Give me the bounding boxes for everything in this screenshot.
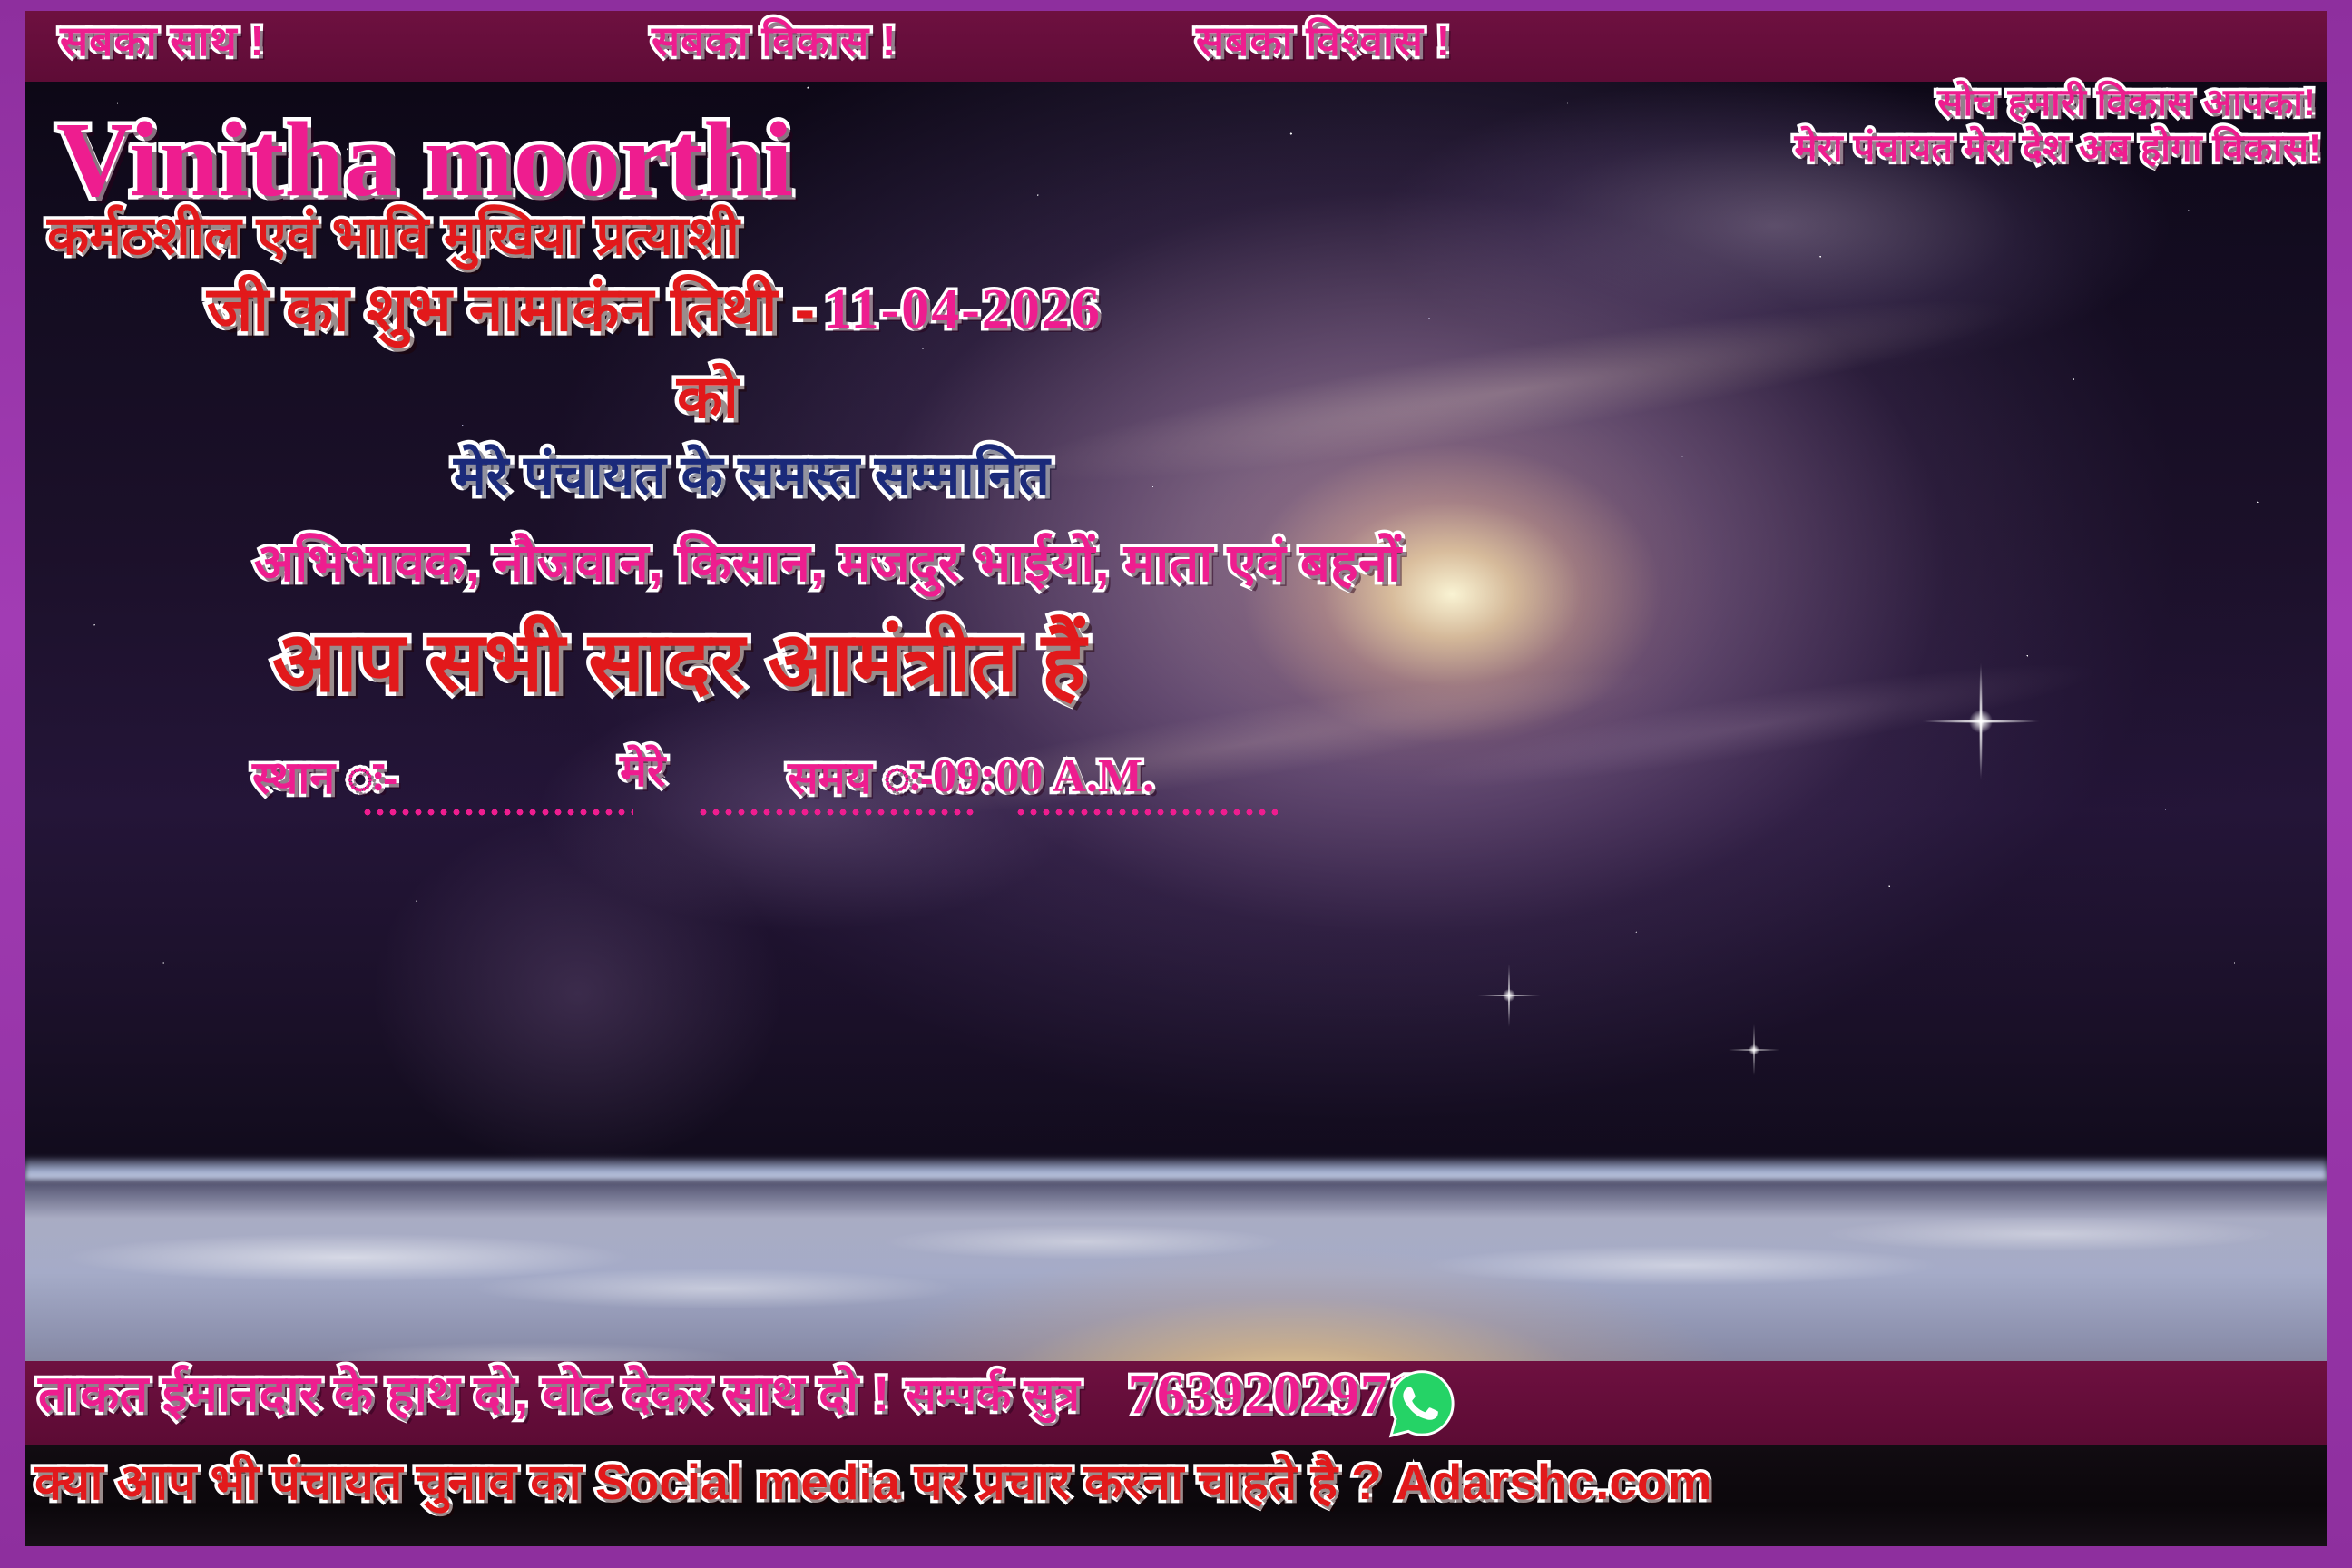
slogan-sabka-vikas: सबका विकास !: [652, 20, 897, 62]
time-leader-dots: [1014, 808, 1278, 817]
promo-band: क्या आप भी पंचायत चुनाव का Social media …: [25, 1445, 2327, 1546]
slogan-sabka-vishwas: सबका विश्वास !: [1196, 20, 1451, 62]
promo-text: क्या आप भी पंचायत चुनाव का Social media …: [34, 1457, 1711, 1507]
nomination-date: 11-04-2026: [824, 281, 1102, 338]
slogan-sabka-saath: सबका साथ !: [60, 20, 265, 62]
contact-label: सम्पर्क सुत्र: [906, 1372, 1080, 1417]
venue-leader-dots-right: [697, 808, 978, 817]
candidate-role: कर्मठशील एवं भावि मुखिया प्रत्याशी: [47, 209, 740, 263]
invite-line-2: अभिभावक, नौजवान, किसान, मजदुर भाईयों, मा…: [254, 537, 1401, 590]
contact-number: 7639202971: [1128, 1367, 1418, 1423]
invite-line-1: मेरे पंचायत के समस्त सम्मानित: [454, 448, 1050, 503]
nomination-label: जी का शुभ नामाकंन तिथी -: [207, 279, 815, 340]
top-slogan-band: सबका साथ ! सबका विकास ! सबका विश्वास !: [25, 11, 2327, 82]
time-label: समय ः-: [788, 755, 935, 800]
whatsapp-icon[interactable]: [1387, 1368, 1457, 1439]
ko-text: को: [677, 367, 739, 426]
time-value: 09:00 A.M.: [933, 753, 1154, 800]
invite-line-3: आप सभी सादर आमंत्रीत हैं: [272, 621, 1086, 704]
corner-slogan-line2: मेरा पंचायत मेरा देश अब होगा विकास!: [1795, 129, 2321, 167]
campaign-poster: सबका साथ ! सबका विकास ! सबका विश्वास ! V…: [0, 0, 2352, 1568]
vote-slogan-band: ताकत ईमानदार के हाथ दो, वोट देकर साथ दो …: [25, 1361, 2327, 1445]
venue-leader-dots: [361, 808, 633, 817]
candidate-name: Vinitha moorthi: [56, 106, 793, 213]
venue-value: मेरे: [620, 748, 665, 793]
venue-label: स्थान ः-: [252, 755, 398, 800]
vote-slogan: ताकत ईमानदार के हाथ दो, वोट देकर साथ दो …: [38, 1368, 889, 1419]
corner-slogan-line1: सोच हमारी विकास आपका!: [1937, 83, 2316, 122]
poster-content-area: सबका साथ ! सबका विकास ! सबका विश्वास ! V…: [25, 11, 2327, 1546]
